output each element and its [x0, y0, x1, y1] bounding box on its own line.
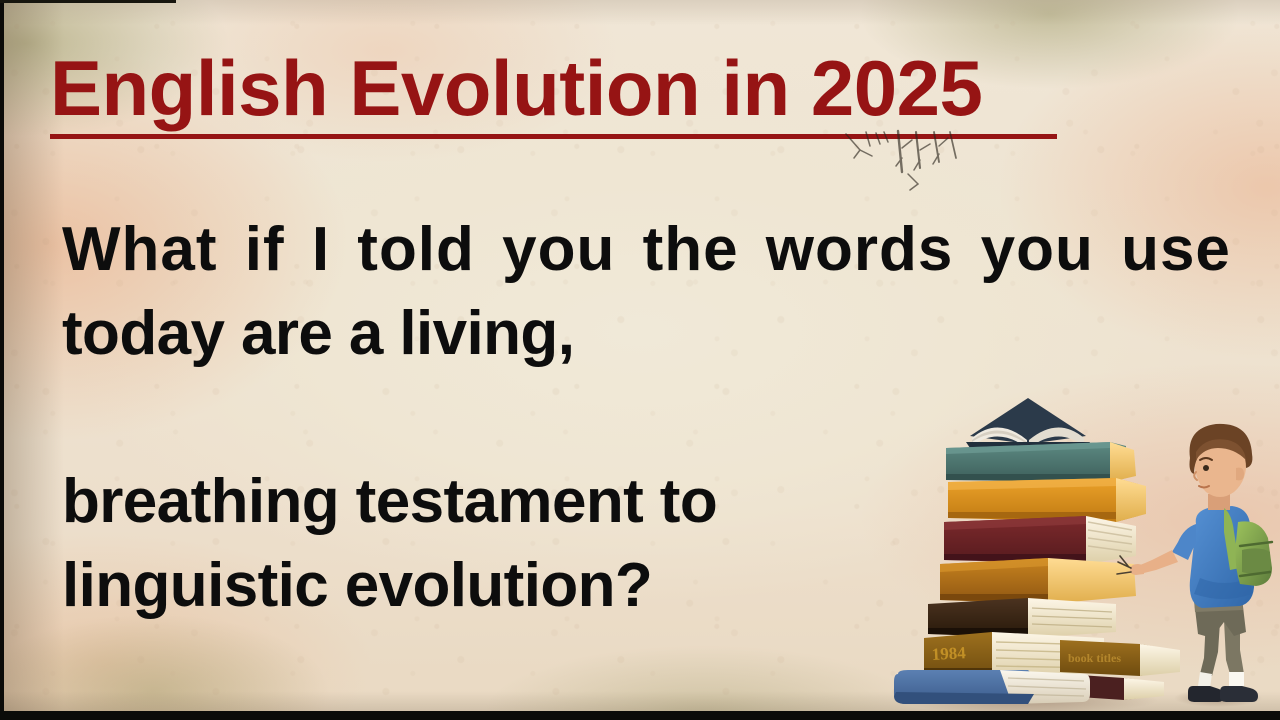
boy-sock-front: [1229, 672, 1244, 686]
boy-shoe-rear: [1188, 686, 1224, 702]
boy-sock-rear: [1198, 672, 1212, 688]
book-open-book-top: [966, 398, 1090, 448]
boy-sleeve: [1172, 524, 1196, 560]
book-spine-lettering: 1984: [931, 643, 966, 664]
border-top: [0, 0, 176, 3]
side-book-lettering: book titles: [1068, 651, 1121, 665]
book-side-ochre-book: book titles: [1060, 640, 1180, 676]
slide-canvas: English Evolution in 2025 What if I told…: [0, 0, 1280, 720]
boy-backpack-pocket: [1242, 548, 1270, 573]
book-maroon-book: [944, 516, 1136, 564]
page-title: English Evolution in 2025: [50, 48, 1062, 128]
books-illustration: 1984 book titles: [888, 382, 1280, 712]
twig-sketch-decoration: [838, 128, 998, 200]
book-teal-book: [946, 442, 1136, 482]
boy-ear: [1236, 468, 1244, 481]
boy-shoe-front: [1220, 686, 1258, 702]
border-left: [0, 0, 4, 720]
book-amber-book: [940, 558, 1136, 604]
book-dark-brown-book: [928, 598, 1116, 638]
paragraph-1: What if I told you the words you use tod…: [62, 208, 1222, 376]
boy-eye: [1203, 465, 1209, 471]
body-line: What if I told you the words you use: [62, 208, 1222, 292]
border-bottom: [0, 711, 1280, 720]
book-orange-book: [948, 478, 1146, 522]
boy-hand: [1130, 564, 1144, 575]
body-line: today are a living,: [62, 292, 1222, 376]
title-block: English Evolution in 2025: [50, 48, 1062, 139]
book-blue-book: [894, 670, 1090, 704]
